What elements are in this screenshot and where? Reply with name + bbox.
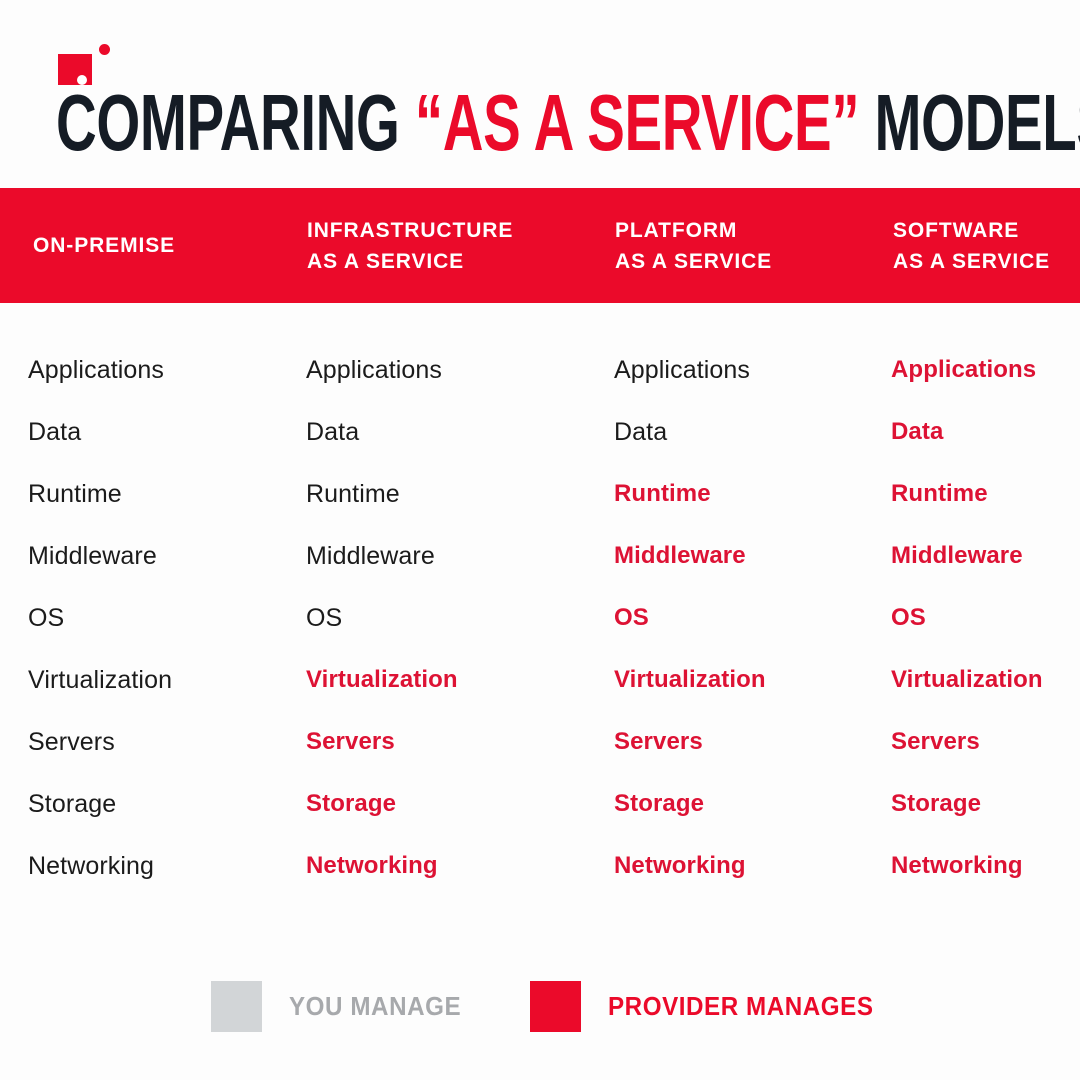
stack-item: OS <box>306 596 566 658</box>
stack-item: Virtualization <box>891 658 1080 720</box>
column-header-on-premise: ON-PREMISE <box>33 188 283 303</box>
stack-item: Data <box>891 410 1080 472</box>
stack-item: OS <box>614 596 874 658</box>
column-header-line: AS A SERVICE <box>615 246 865 277</box>
column-headers-band: ON-PREMISE INFRASTRUCTURE AS A SERVICE P… <box>0 188 1080 303</box>
stack-item: OS <box>28 596 288 658</box>
stack-item: Servers <box>614 720 874 782</box>
stack-item: Storage <box>614 782 874 844</box>
page-title-part-3: MODELS <box>859 78 1080 167</box>
column-header-line: AS A SERVICE <box>893 246 1080 277</box>
stack-item: Storage <box>28 782 288 844</box>
page-title-part-1: COMPARING <box>56 78 415 167</box>
stack-item: Middleware <box>306 534 566 596</box>
stack-item: Virtualization <box>28 658 288 720</box>
stack-item: Applications <box>891 348 1080 410</box>
stack-item: Storage <box>891 782 1080 844</box>
stack-column-on-premise: Applications Data Runtime Middleware OS … <box>28 348 288 906</box>
page-title: COMPARING “AS A SERVICE” MODELS <box>56 84 747 162</box>
stack-column-infrastructure-as-a-service: Applications Data Runtime Middleware OS … <box>306 348 566 906</box>
column-header-line: INFRASTRUCTURE <box>307 215 577 246</box>
stack-item: Servers <box>306 720 566 782</box>
stack-item: Middleware <box>614 534 874 596</box>
stack-item: Applications <box>306 348 566 410</box>
stack-item: Networking <box>614 844 874 906</box>
stack-column-software-as-a-service: Applications Data Runtime Middleware OS … <box>891 348 1080 906</box>
stack-item: Data <box>306 410 566 472</box>
stack-item: Servers <box>28 720 288 782</box>
column-header-infrastructure-as-a-service: INFRASTRUCTURE AS A SERVICE <box>307 188 577 303</box>
stack-item: Networking <box>306 844 566 906</box>
stack-item: Data <box>614 410 874 472</box>
stack-item: Applications <box>28 348 288 410</box>
column-header-line: SOFTWARE <box>893 215 1080 246</box>
stack-column-platform-as-a-service: Applications Data Runtime Middleware OS … <box>614 348 874 906</box>
stack-item: Data <box>28 410 288 472</box>
stack-item: Storage <box>306 782 566 844</box>
legend-item-you-manage: YOU MANAGE <box>211 975 474 1037</box>
stack-item: Networking <box>28 844 288 906</box>
stack-item: Virtualization <box>306 658 566 720</box>
stack-item: Runtime <box>28 472 288 534</box>
logo-outer-dot-icon <box>99 44 110 55</box>
stack-item: Networking <box>891 844 1080 906</box>
stack-item: Runtime <box>614 472 874 534</box>
stack-item: Middleware <box>28 534 288 596</box>
column-header-line: AS A SERVICE <box>307 246 577 277</box>
legend-label-provider-manages: PROVIDER MANAGES <box>608 991 874 1022</box>
stack-item: Servers <box>891 720 1080 782</box>
legend-item-provider-manages: PROVIDER MANAGES <box>530 975 894 1037</box>
column-header-platform-as-a-service: PLATFORM AS A SERVICE <box>615 188 865 303</box>
legend-swatch-red <box>530 981 581 1032</box>
legend-label-you-manage: YOU MANAGE <box>289 991 461 1022</box>
legend: YOU MANAGE PROVIDER MANAGES <box>0 975 1080 1037</box>
column-header-line: ON-PREMISE <box>33 230 283 261</box>
stack-item: Middleware <box>891 534 1080 596</box>
stack-item: OS <box>891 596 1080 658</box>
stack-item: Runtime <box>891 472 1080 534</box>
column-header-line: PLATFORM <box>615 215 865 246</box>
stack-item: Runtime <box>306 472 566 534</box>
stack-item: Virtualization <box>614 658 874 720</box>
stack-item: Applications <box>614 348 874 410</box>
column-header-software-as-a-service: SOFTWARE AS A SERVICE <box>893 188 1080 303</box>
page-title-part-2: “AS A SERVICE” <box>415 78 859 167</box>
infographic-canvas: COMPARING “AS A SERVICE” MODELS ON-PREMI… <box>0 0 1080 1080</box>
legend-swatch-gray <box>211 981 262 1032</box>
